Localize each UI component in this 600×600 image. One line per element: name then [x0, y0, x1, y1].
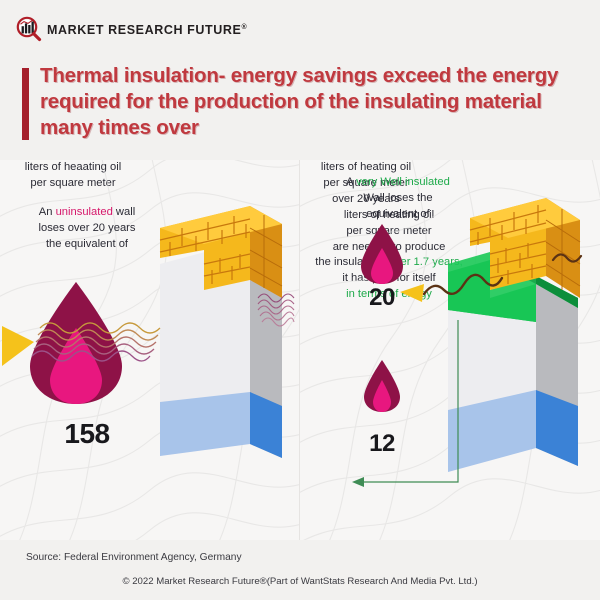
footer: Source: Federal Environment Agency, Germ… [0, 540, 600, 600]
copyright-note: © 2022 Market Research Future®(Part of W… [0, 576, 600, 587]
magnifier-bar-chart-icon [16, 16, 42, 42]
heat-wave-icon [0, 310, 180, 380]
caption-line-2: loses over 20 years [38, 222, 135, 234]
caption-line-2: Wall loses the [363, 192, 432, 204]
panel-uninsulated: An uninsulated wall loses over 20 years … [0, 160, 300, 540]
heat-loss-arrow-icon [396, 268, 506, 316]
header: MARKET RESEARCH FUTURE® Thermal insulati… [0, 0, 600, 160]
caption-line-3: the equivalent of [46, 238, 128, 250]
registered-mark: ® [241, 24, 247, 31]
brand-logo[interactable]: MARKET RESEARCH FUTURE® [16, 16, 247, 42]
source-note: Source: Federal Environment Agency, Germ… [26, 552, 242, 563]
caption-highlight: very Well insulated [356, 176, 450, 188]
heat-loss-arrow-icon [2, 326, 34, 366]
caption-prefix: An [39, 206, 56, 218]
title-accent-bar [22, 68, 29, 140]
caption-line-3: equivalent of [366, 208, 429, 220]
caption-suffix: wall [113, 206, 135, 218]
callout-connector-icon [340, 320, 480, 500]
panel-insulated: A very Well insulated Wall loses the equ… [300, 160, 600, 540]
caption-highlight: uninsulated [56, 206, 113, 218]
page-title: Thermal insulation- energy savings excee… [40, 63, 576, 142]
brand-name: MARKET RESEARCH FUTURE® [47, 23, 247, 37]
infographic-canvas: MARKET RESEARCH FUTURE® Thermal insulati… [0, 0, 600, 600]
caption-prefix: A [346, 176, 356, 188]
comparison-panels: An uninsulated wall loses over 20 years … [0, 160, 600, 540]
uninsulated-value: 158 [14, 418, 160, 450]
uninsulated-caption: An uninsulated wall loses over 20 years … [14, 204, 160, 253]
